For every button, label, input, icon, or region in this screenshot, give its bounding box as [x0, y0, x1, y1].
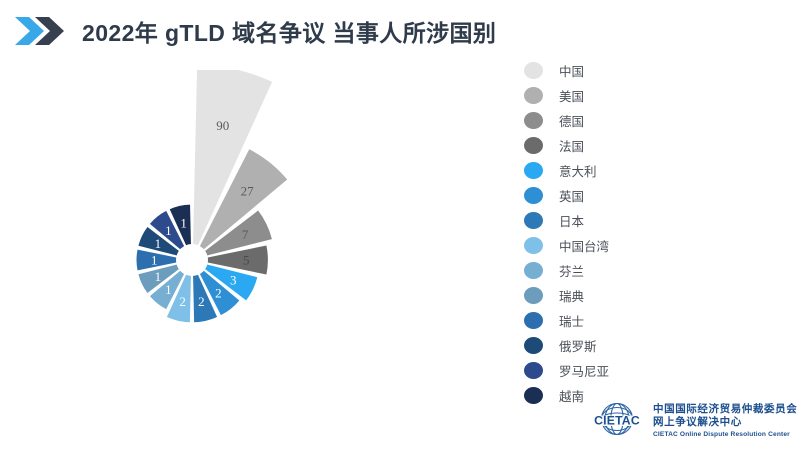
legend-swatch [524, 387, 543, 404]
pie-slice-value-label: 1 [165, 282, 172, 297]
legend-swatch [524, 62, 543, 79]
pie-slice-value-label: 90 [216, 118, 229, 133]
legend-item-label: 罗马尼亚 [559, 361, 609, 380]
legend-item[interactable]: 法国 [524, 133, 704, 158]
pie-slice-value-label: 1 [155, 269, 162, 284]
legend-swatch [524, 87, 543, 104]
legend-item[interactable]: 瑞士 [524, 308, 704, 333]
legend-swatch [524, 112, 543, 129]
legend-item[interactable]: 中国台湾 [524, 233, 704, 258]
donut-hole [176, 244, 208, 276]
legend-swatch [524, 337, 543, 354]
footer-org-line3: CIETAC Online Dispute Resolution Center [653, 431, 797, 439]
page-title: 2022年 gTLD 域名争议 当事人所涉国别 [82, 14, 496, 48]
legend-item[interactable]: 中国 [524, 58, 704, 83]
pie-slice-value-label: 2 [198, 294, 205, 309]
legend-swatch [524, 262, 543, 279]
pie-slice-value-label: 2 [215, 286, 222, 301]
cietac-globe-icon: CIETAC [588, 398, 646, 444]
page-header: 2022年 gTLD 域名争议 当事人所涉国别 [0, 0, 800, 62]
legend-item[interactable]: 俄罗斯 [524, 333, 704, 358]
legend-swatch [524, 212, 543, 229]
double-chevron-icon [14, 14, 66, 48]
pie-slice-value-label: 27 [241, 183, 255, 198]
pie-slice-value-label: 1 [151, 253, 158, 268]
pie-slice-value-label: 2 [179, 294, 186, 309]
legend-swatch [524, 237, 543, 254]
legend-item[interactable]: 英国 [524, 183, 704, 208]
country-distribution-rose-chart: 9027753222111111 [10, 70, 500, 440]
legend-item-label: 美国 [559, 86, 584, 105]
legend-item-label: 中国 [559, 61, 584, 80]
legend-swatch [524, 312, 543, 329]
legend-item-label: 瑞典 [559, 286, 584, 305]
legend-swatch [524, 162, 543, 179]
cietac-footer-logo: CIETAC 中国国际经济贸易仲裁委员会 网上争议解决中心 CIETAC Onl… [588, 398, 797, 444]
pie-slice-value-label: 1 [180, 216, 187, 231]
pie-slice-value-label: 5 [243, 253, 250, 268]
pie-slice-value-label: 1 [165, 223, 172, 238]
legend-item-label: 瑞士 [559, 311, 584, 330]
pie-slice-value-label: 7 [242, 227, 249, 242]
pie-slice-value-label: 1 [155, 236, 162, 251]
footer-org-line1: 中国国际经济贸易仲裁委员会 [653, 403, 797, 416]
legend-swatch [524, 187, 543, 204]
legend-item-label: 越南 [559, 386, 584, 405]
legend-item-label: 芬兰 [559, 261, 584, 280]
footer-org-line2: 网上争议解决中心 [653, 416, 797, 429]
legend-item[interactable]: 美国 [524, 83, 704, 108]
legend-item-label: 日本 [559, 211, 584, 230]
legend-swatch [524, 287, 543, 304]
legend-item-label: 法国 [559, 136, 584, 155]
legend-item[interactable]: 德国 [524, 108, 704, 133]
legend-swatch [524, 362, 543, 379]
legend-item-label: 中国台湾 [559, 236, 609, 255]
svg-text:CIETAC: CIETAC [594, 413, 640, 427]
legend-item-label: 意大利 [559, 161, 597, 180]
pie-slice-value-label: 3 [230, 272, 237, 287]
legend-swatch [524, 137, 543, 154]
footer-org-text: 中国国际经济贸易仲裁委员会 网上争议解决中心 CIETAC Online Dis… [653, 403, 797, 438]
legend-item[interactable]: 意大利 [524, 158, 704, 183]
legend-item[interactable]: 芬兰 [524, 258, 704, 283]
legend-item-label: 英国 [559, 186, 584, 205]
rose-chart-container: 9027753222111111 [10, 70, 500, 440]
legend-item[interactable]: 瑞典 [524, 283, 704, 308]
chart-legend: 中国美国德国法国意大利英国日本中国台湾芬兰瑞典瑞士俄罗斯罗马尼亚越南 [524, 58, 704, 408]
legend-item[interactable]: 日本 [524, 208, 704, 233]
legend-item[interactable]: 罗马尼亚 [524, 358, 704, 383]
legend-item-label: 俄罗斯 [559, 336, 597, 355]
legend-item-label: 德国 [559, 111, 584, 130]
